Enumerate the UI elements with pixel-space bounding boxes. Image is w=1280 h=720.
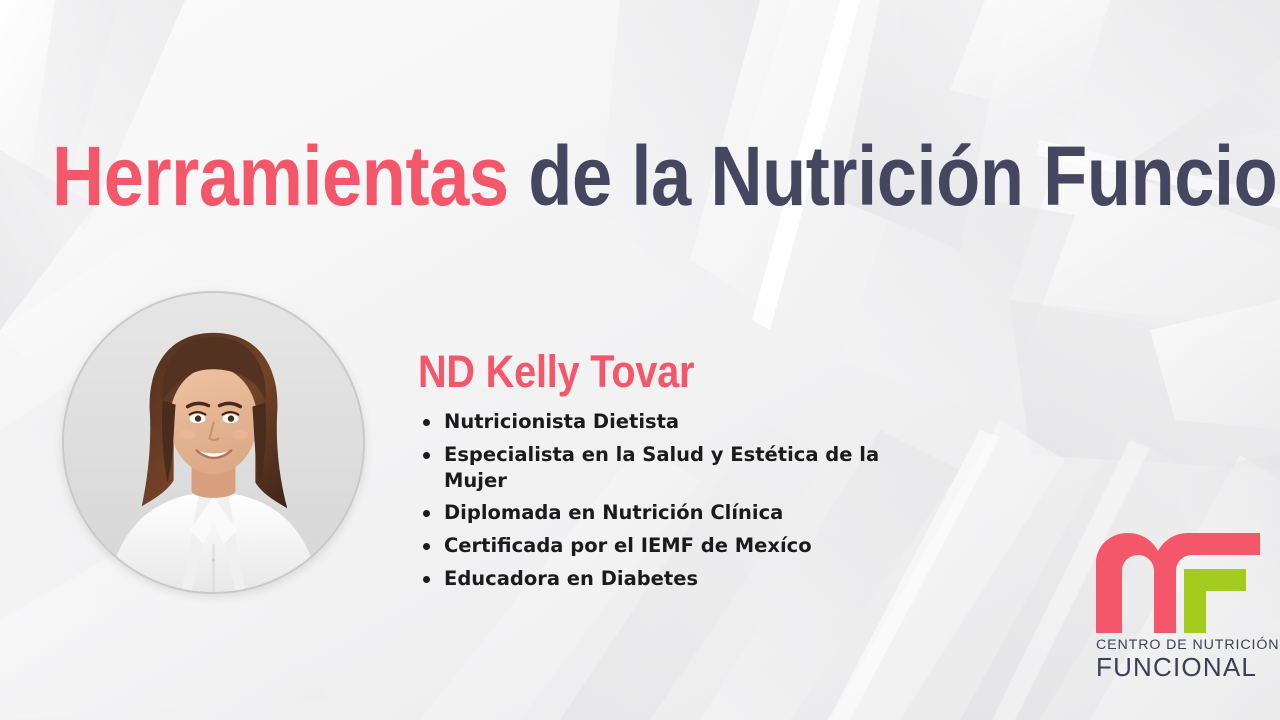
list-item: Nutricionista Dietista [418,409,888,435]
avatar [62,291,365,594]
logo-tagline-secondary: FUNCIONAL [1096,654,1260,681]
list-item: Educadora en Diabetes [418,566,888,592]
list-item: Especialista en la Salud y Estética de l… [418,442,888,493]
logo-tagline-primary: CENTRO DE NUTRICIÓN [1096,637,1260,653]
credentials-list: Nutricionista Dietista Especialista en l… [418,409,888,591]
speaker-info: ND Kelly Tovar Nutricionista Dietista Es… [418,348,888,599]
list-item: Certificada por el IEMF de Mexíco [418,533,888,559]
list-item: Diplomada en Nutrición Clínica [418,500,888,526]
presentation-slide: Herramientas de la Nutrición Funciona [0,0,1280,720]
speaker-name: ND Kelly Tovar [418,348,832,395]
page-title-rest: de la Nutrición Funciona [509,129,1280,223]
page-title: Herramientas de la Nutrición Funciona [52,134,1110,218]
nf-monogram-icon [1096,533,1260,633]
brand-logo: CENTRO DE NUTRICIÓN FUNCIONAL [1096,533,1260,681]
page-title-accent: Herramientas [52,129,509,223]
portrait-illustration [64,293,363,592]
